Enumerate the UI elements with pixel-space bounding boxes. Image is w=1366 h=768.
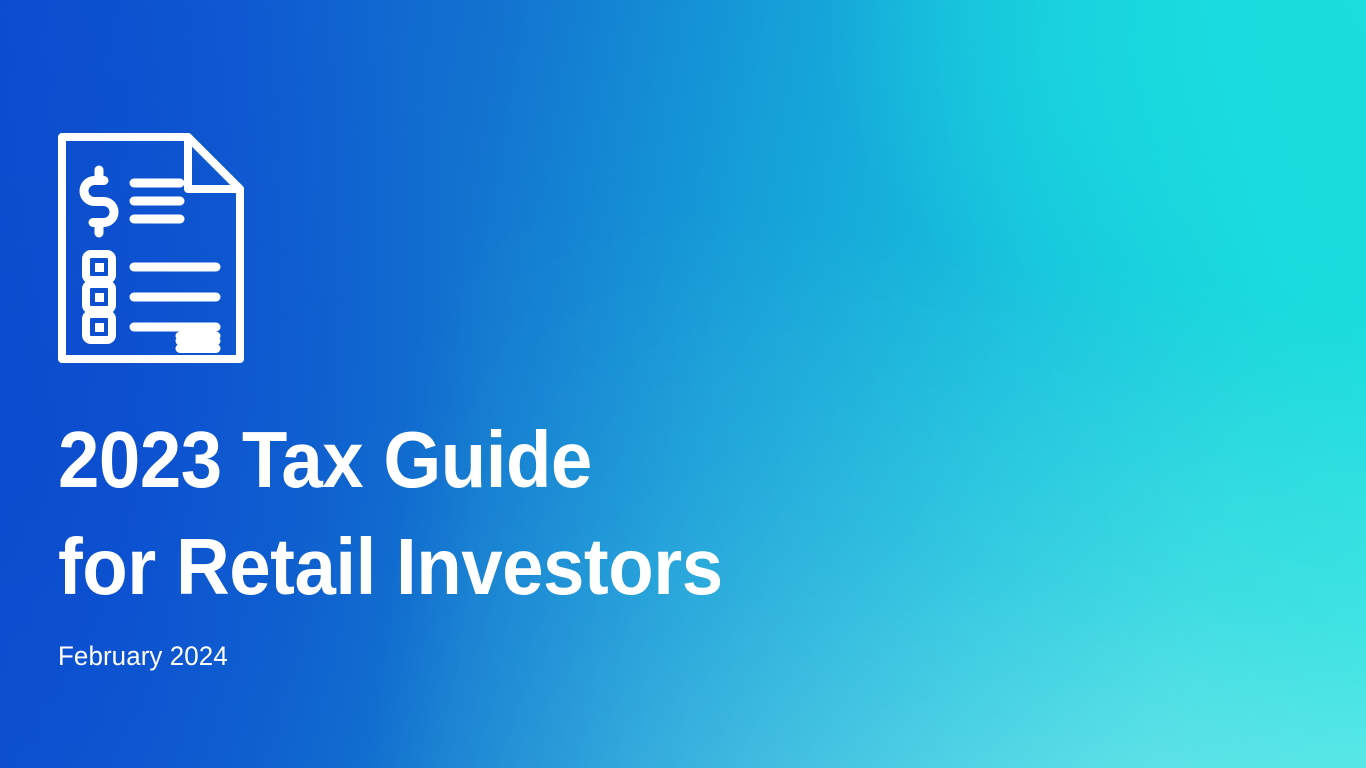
publication-date: February 2024 <box>58 636 228 676</box>
tax-document-checklist-icon-svg <box>58 133 244 363</box>
header-lines-icon <box>134 183 180 219</box>
checklist-row-1 <box>86 254 216 280</box>
page-title-line-2: for Retail Investors <box>58 513 895 620</box>
slide-content: 2023 Tax Guide for Retail Investors Febr… <box>58 0 1058 768</box>
page-title: 2023 Tax Guide for Retail Investors <box>58 406 958 620</box>
checklist-row-2 <box>86 284 216 310</box>
title-slide: 2023 Tax Guide for Retail Investors Febr… <box>0 0 1366 768</box>
page-title-line-1: 2023 Tax Guide <box>58 406 895 513</box>
dollar-sign-icon <box>84 170 114 233</box>
tax-document-checklist-icon <box>58 133 244 363</box>
